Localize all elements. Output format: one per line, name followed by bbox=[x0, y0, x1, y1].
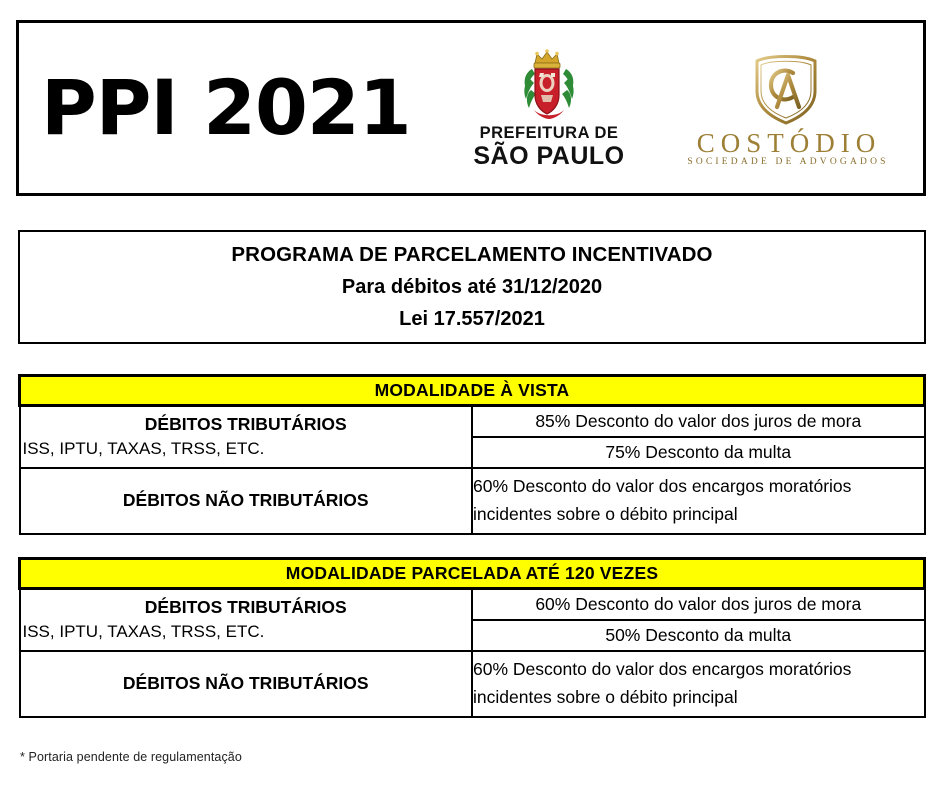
program-law: Lei 17.557/2021 bbox=[399, 303, 545, 335]
program-subtitle-box: PROGRAMA DE PARCELAMENTO INCENTIVADO Par… bbox=[18, 230, 926, 344]
costodio-logo: COSTÓDIO SOCIEDADE DE ADVOGADOS bbox=[649, 47, 923, 169]
category-cell-nao-tributarios: DÉBITOS NÃO TRIBUTÁRIOS bbox=[20, 651, 473, 717]
table-row: DÉBITOS TRIBUTÁRIOS ISS, IPTU, TAXAS, TR… bbox=[20, 406, 925, 437]
prefeitura-line2: SÃO PAULO bbox=[473, 143, 624, 169]
costodio-subtitle: SOCIEDADE DE ADVOGADOS bbox=[683, 157, 888, 168]
program-deadline: Para débitos até 31/12/2020 bbox=[342, 271, 602, 303]
poster-page: PPI 2021 bbox=[0, 0, 946, 797]
table-band-title: MODALIDADE PARCELADA ATÉ 120 VEZES bbox=[20, 559, 925, 589]
costodio-name: COSTÓDIO bbox=[691, 129, 882, 157]
table-row: MODALIDADE À VISTA bbox=[20, 376, 925, 406]
program-name: PROGRAMA DE PARCELAMENTO INCENTIVADO bbox=[231, 239, 712, 271]
benefit-line-1: 60% Desconto do valor dos encargos morat… bbox=[473, 473, 924, 500]
category-subtitle: ISS, IPTU, TAXAS, TRSS, ETC. bbox=[21, 620, 472, 644]
table-band-title: MODALIDADE À VISTA bbox=[20, 376, 925, 406]
category-title: DÉBITOS TRIBUTÁRIOS bbox=[21, 413, 472, 437]
table-row: DÉBITOS NÃO TRIBUTÁRIOS 60% Desconto do … bbox=[20, 468, 925, 534]
table-row: DÉBITOS TRIBUTÁRIOS ISS, IPTU, TAXAS, TR… bbox=[20, 589, 925, 620]
category-subtitle: ISS, IPTU, TAXAS, TRSS, ETC. bbox=[21, 437, 472, 461]
prefeitura-line1: PREFEITURA DE bbox=[480, 125, 619, 142]
benefit-cell-multiline: 60% Desconto do valor dos encargos morat… bbox=[472, 651, 925, 717]
category-title: DÉBITOS TRIBUTÁRIOS bbox=[21, 596, 472, 620]
title-container: PPI 2021 bbox=[19, 70, 449, 146]
table-modalidade-parcelada: MODALIDADE PARCELADA ATÉ 120 VEZES DÉBIT… bbox=[18, 557, 926, 718]
page-title: PPI 2021 bbox=[41, 70, 449, 146]
table-modalidade-a-vista: MODALIDADE À VISTA DÉBITOS TRIBUTÁRIOS I… bbox=[18, 374, 926, 535]
benefit-cell: 85% Desconto do valor dos juros de mora bbox=[472, 406, 925, 437]
category-cell-nao-tributarios: DÉBITOS NÃO TRIBUTÁRIOS bbox=[20, 468, 473, 534]
benefit-line-1: 60% Desconto do valor dos encargos morat… bbox=[473, 656, 924, 683]
benefit-cell-multiline: 60% Desconto do valor dos encargos morat… bbox=[472, 468, 925, 534]
table-row: MODALIDADE PARCELADA ATÉ 120 VEZES bbox=[20, 559, 925, 589]
benefit-cell: 50% Desconto da multa bbox=[472, 620, 925, 651]
sao-paulo-coat-of-arms-icon bbox=[521, 47, 577, 121]
costodio-shield-monogram-icon bbox=[749, 47, 823, 127]
benefit-line-2: incidentes sobre o débito principal bbox=[473, 501, 924, 528]
prefeitura-logo: PREFEITURA DE SÃO PAULO bbox=[449, 47, 649, 169]
benefit-line-2: incidentes sobre o débito principal bbox=[473, 684, 924, 711]
category-cell-tributarios: DÉBITOS TRIBUTÁRIOS ISS, IPTU, TAXAS, TR… bbox=[20, 589, 473, 651]
benefit-cell: 75% Desconto da multa bbox=[472, 437, 925, 468]
footnote: * Portaria pendente de regulamentação bbox=[20, 750, 242, 764]
header-banner: PPI 2021 bbox=[16, 20, 926, 196]
benefit-cell: 60% Desconto do valor dos juros de mora bbox=[472, 589, 925, 620]
category-cell-tributarios: DÉBITOS TRIBUTÁRIOS ISS, IPTU, TAXAS, TR… bbox=[20, 406, 473, 468]
table-row: DÉBITOS NÃO TRIBUTÁRIOS 60% Desconto do … bbox=[20, 651, 925, 717]
